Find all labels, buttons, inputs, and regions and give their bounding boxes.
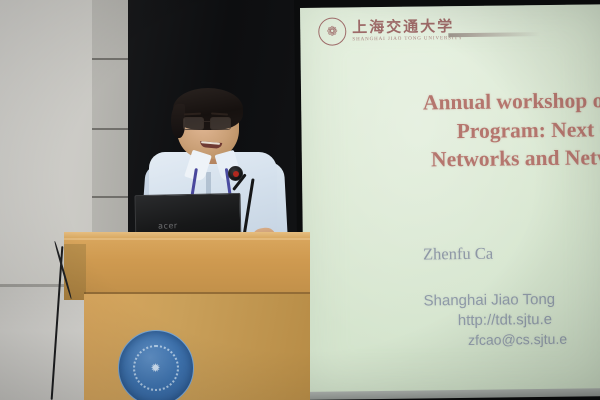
podium-top-surface: [64, 238, 310, 298]
glasses-lens-left: [183, 117, 204, 130]
presentation-slide: ❁ 上海交通大学 SHANGHAI JIAO TONG UNIVERSITY A…: [300, 4, 600, 396]
slide-contact-block: Shanghai Jiao Tong http://tdt.sjtu.e zfc…: [403, 287, 600, 350]
university-seal-icon: ❁: [318, 17, 346, 45]
slide-title-line-1: Annual workshop on: [309, 85, 600, 119]
university-logo-text: 上海交通大学 SHANGHAI JIAO TONG UNIVERSITY: [352, 19, 463, 42]
slide-email: zfcao@cs.sjtu.e: [404, 327, 600, 350]
podium-front-panel: [84, 294, 310, 400]
slide-author-name: Zhenfu Ca: [423, 240, 600, 264]
university-name-chinese: 上海交通大学: [352, 19, 463, 35]
slide-affiliation: Shanghai Jiao Tong: [403, 287, 600, 311]
microphone-indicator-light: [233, 171, 239, 177]
slide-title-line-3: Networks and Netw: [310, 142, 600, 176]
university-logo: ❁ 上海交通大学 SHANGHAI JIAO TONG UNIVERSITY: [318, 16, 463, 46]
podium-left-face: [64, 244, 86, 300]
university-name-english: SHANGHAI JIAO TONG UNIVERSITY: [352, 36, 463, 42]
logo-gradient-bar: [448, 32, 540, 37]
slide-title-line-2: Program: Next G: [309, 113, 600, 147]
glasses-lens-right: [210, 117, 231, 130]
glasses-bridge: [202, 121, 210, 122]
podium-university-emblem: ✹: [118, 330, 194, 400]
slide-title: Annual workshop on Program: Next G Netwo…: [309, 85, 600, 176]
conference-photo: ❁ 上海交通大学 SHANGHAI JIAO TONG UNIVERSITY A…: [0, 0, 600, 400]
emblem-inner-glyph: ✹: [133, 345, 179, 391]
laptop-brand-logo: acer: [158, 221, 178, 230]
